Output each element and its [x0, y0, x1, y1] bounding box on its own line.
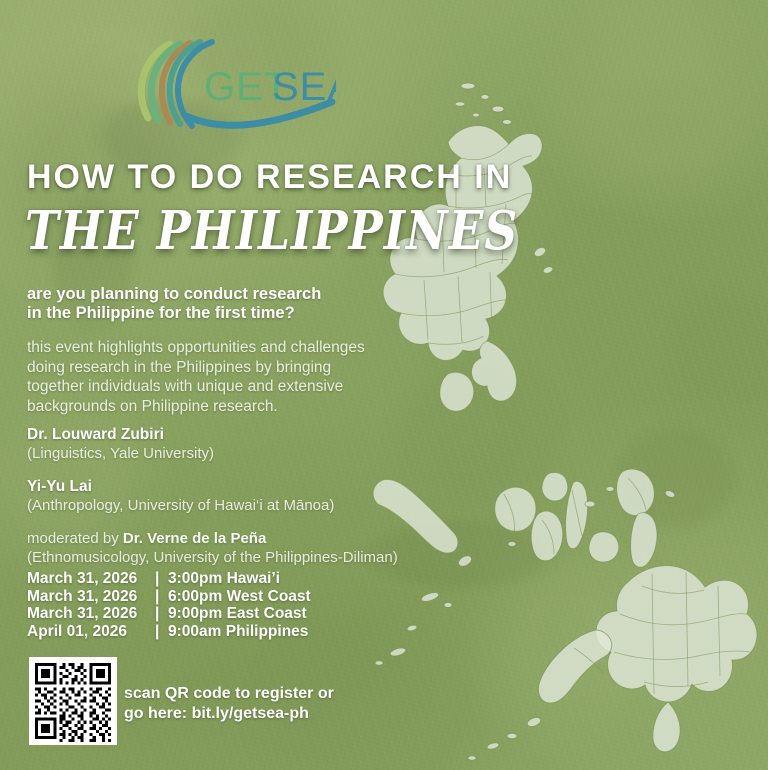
speaker-entry: Dr. Louward Zubiri (Linguistics, Yale Un…: [27, 425, 497, 463]
schedule-row: March 31, 2026 | 9:00pm East Coast: [27, 605, 311, 623]
schedule-time: 9:00pm East Coast: [168, 605, 307, 623]
schedule-separator: |: [155, 588, 168, 606]
schedule-list: March 31, 2026 | 3:00pm Hawai’i March 31…: [27, 570, 311, 640]
schedule-time: 3:00pm Hawai’i: [168, 570, 280, 588]
schedule-date: April 01, 2026: [27, 623, 155, 641]
event-description-line-1: this event highlights opportunities and …: [27, 338, 365, 358]
speaker-affiliation: (Linguistics, Yale University): [27, 444, 497, 463]
speaker-list: Dr. Louward Zubiri (Linguistics, Yale Un…: [27, 425, 497, 567]
moderator-entry: moderated by Dr. Verne de la Peña (Ethno…: [27, 529, 497, 567]
event-question: are you planning to conduct research in …: [27, 285, 321, 323]
event-description-line-2: doing research in the Philippines by bri…: [27, 358, 365, 378]
speaker-entry: Yi-Yu Lai (Anthropology, University of H…: [27, 477, 497, 515]
moderator-affiliation: (Ethnomusicology, University of the Phil…: [27, 548, 497, 567]
schedule-separator: |: [155, 623, 168, 641]
moderator-name: Dr. Verne de la Peña: [123, 530, 266, 547]
headline-line-1: HOW TO DO RESEARCH IN: [27, 158, 512, 197]
schedule-date: March 31, 2026: [27, 570, 155, 588]
schedule-row: March 31, 2026 | 6:00pm West Coast: [27, 588, 311, 606]
schedule-row: April 01, 2026 | 9:00am Philippines: [27, 623, 311, 641]
event-description-line-3: together individuals with unique and ext…: [27, 377, 365, 397]
logo-text-sea: SEA: [272, 65, 336, 109]
schedule-row: March 31, 2026 | 3:00pm Hawai’i: [27, 570, 311, 588]
schedule-separator: |: [155, 570, 168, 588]
poster-canvas: GET SEA HOW TO DO RESEARCH IN THE PHILIP…: [0, 0, 768, 770]
schedule-date: March 31, 2026: [27, 605, 155, 623]
headline-line-2: THE PHILIPPINES: [25, 199, 518, 262]
event-description-line-4: backgrounds on Philippine research.: [27, 397, 365, 417]
register-line-1: scan QR code to register or: [124, 684, 334, 704]
moderator-line: moderated by Dr. Verne de la Peña: [27, 529, 497, 548]
schedule-separator: |: [155, 605, 168, 623]
moderator-prefix: moderated by: [27, 530, 123, 547]
register-instructions: scan QR code to register or go here: bit…: [124, 684, 334, 723]
event-description: this event highlights opportunities and …: [27, 338, 365, 416]
schedule-time: 6:00pm West Coast: [168, 588, 311, 606]
speaker-affiliation: (Anthropology, University of Hawai‘i at …: [27, 496, 497, 515]
getsea-logo: GET SEA: [126, 38, 336, 130]
speaker-name: Yi-Yu Lai: [27, 477, 497, 496]
event-question-line-1: are you planning to conduct research: [27, 285, 321, 304]
schedule-date: March 31, 2026: [27, 588, 155, 606]
qr-code[interactable]: [29, 657, 117, 745]
register-line-2[interactable]: go here: bit.ly/getsea-ph: [124, 704, 334, 724]
schedule-time: 9:00am Philippines: [168, 623, 308, 641]
speaker-name: Dr. Louward Zubiri: [27, 425, 497, 444]
event-question-line-2: in the Philippine for the first time?: [27, 304, 321, 323]
